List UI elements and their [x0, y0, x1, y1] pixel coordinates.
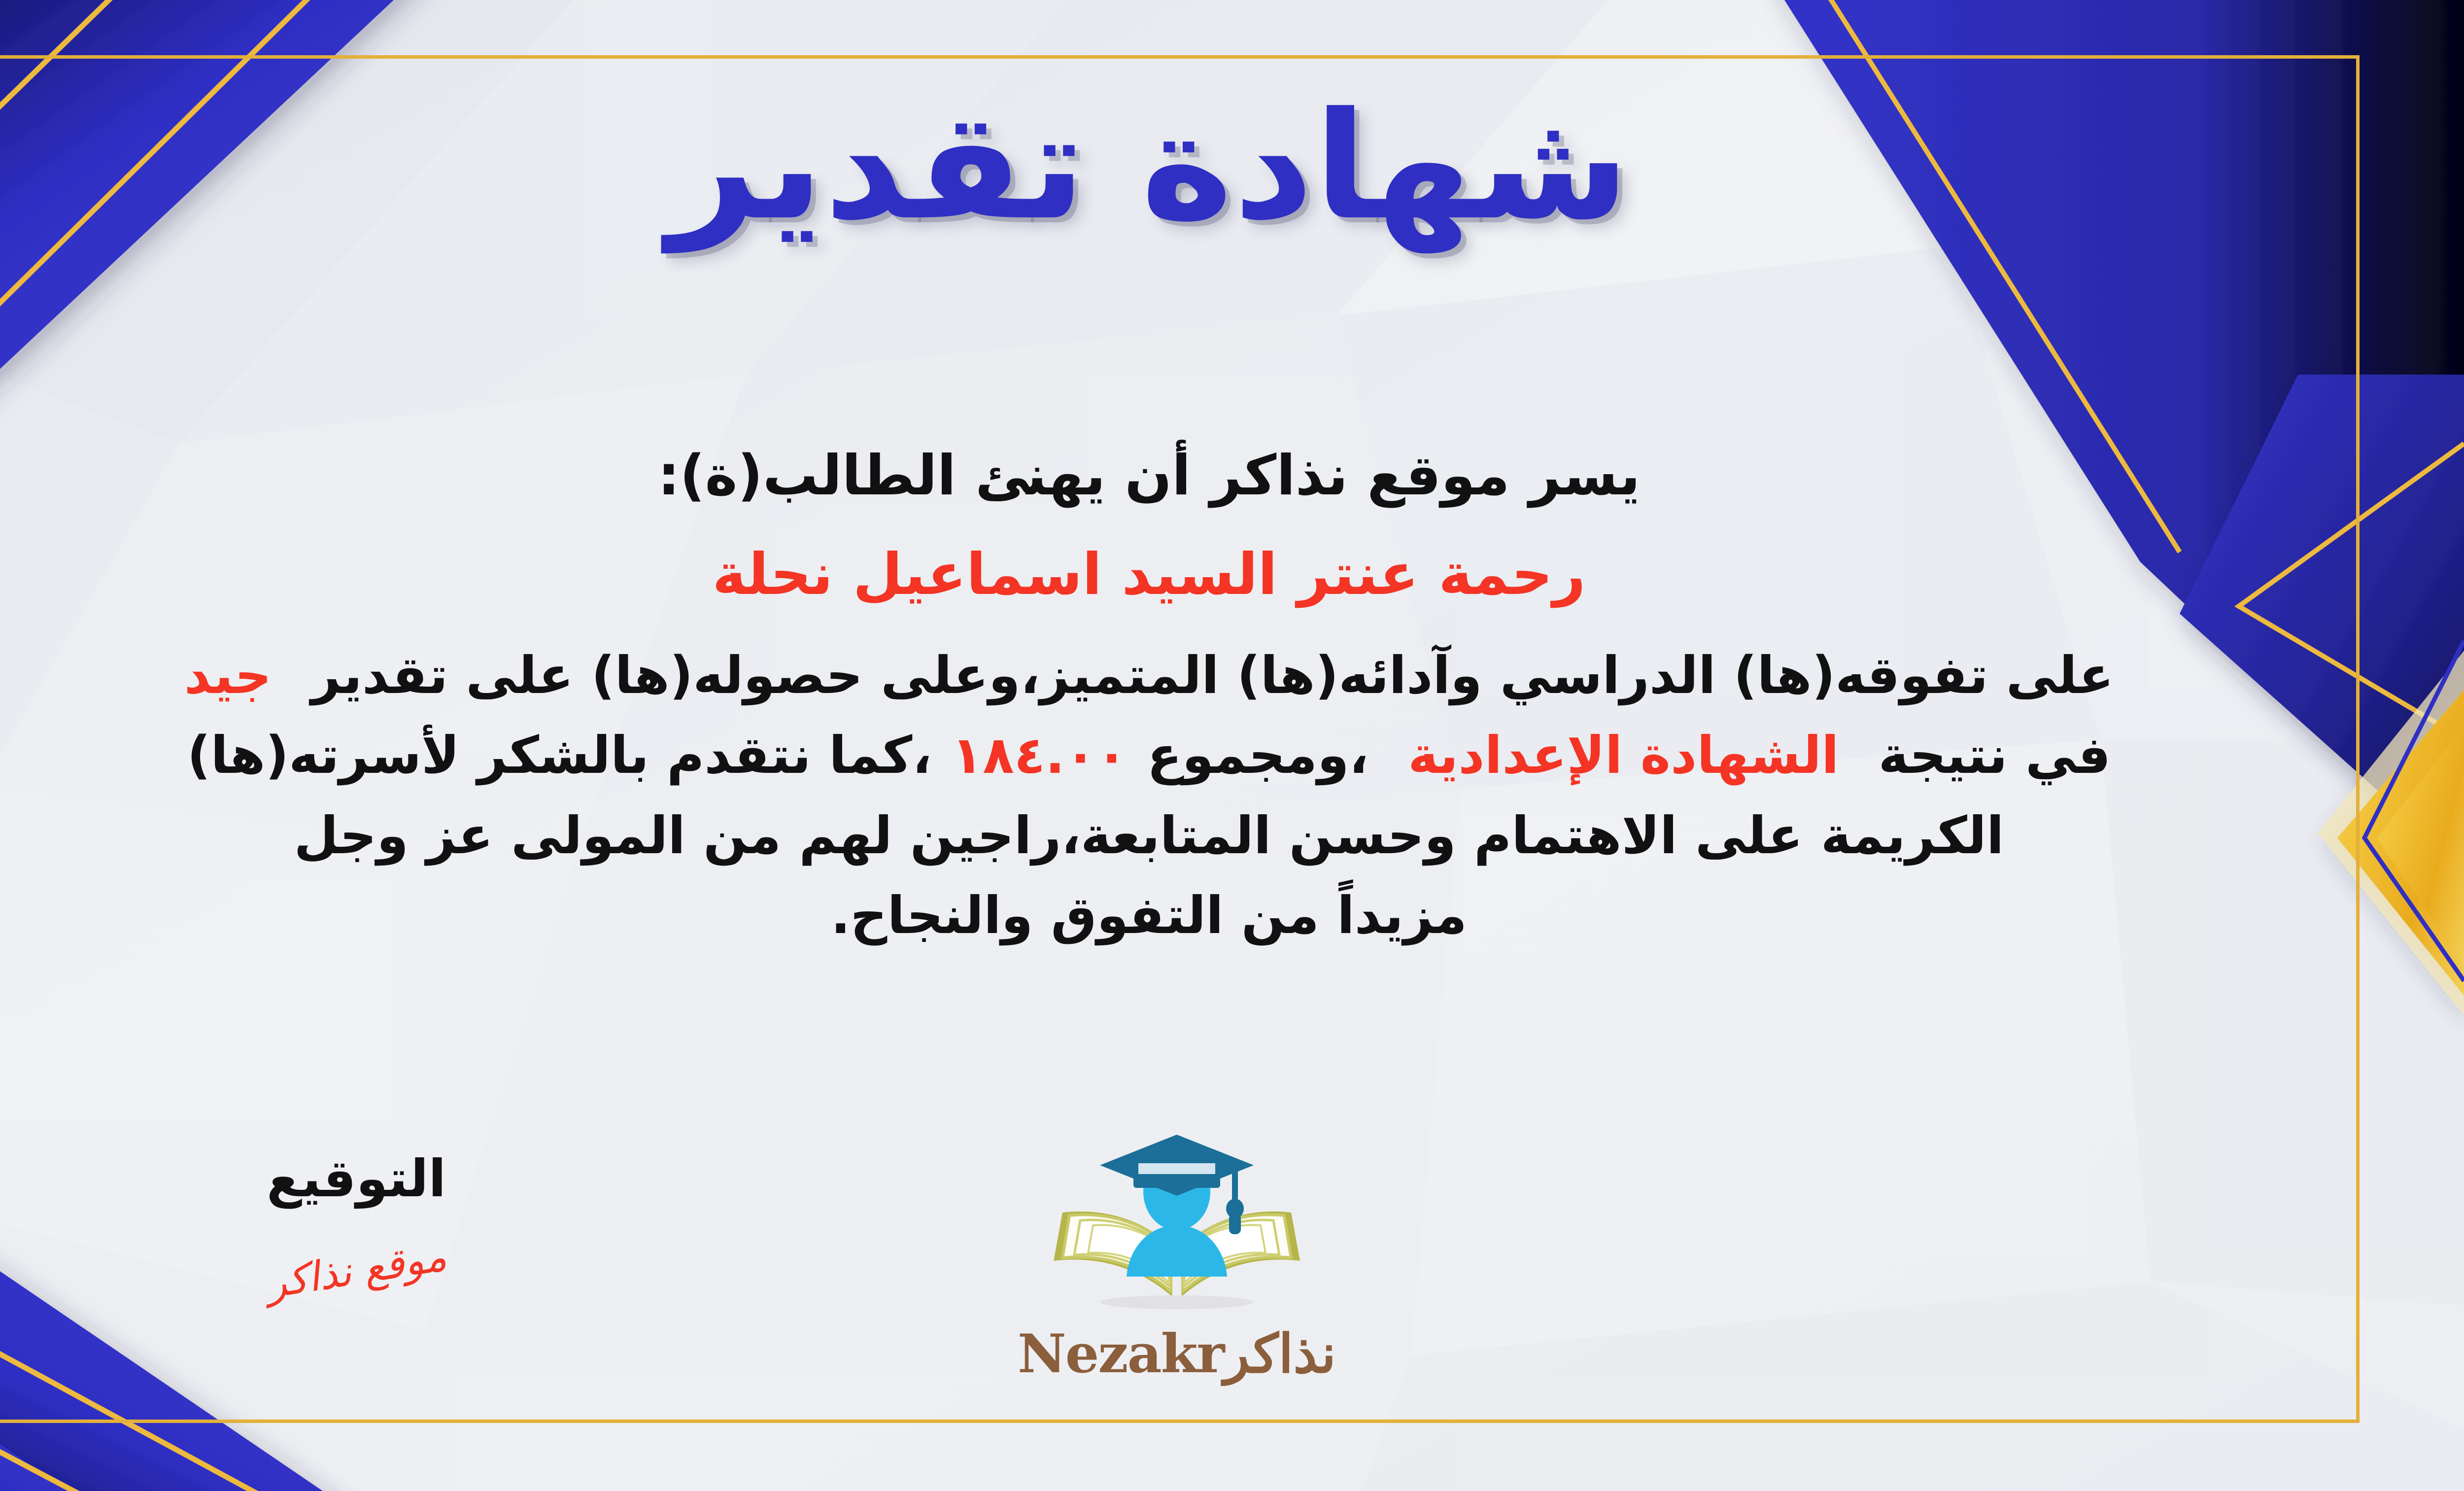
- signature-label: التوقيع: [179, 1148, 534, 1209]
- intro-line: يسر موقع نذاكر أن يهنئ الطالب(ة):: [0, 434, 2316, 518]
- logo-wordmark: نذاكرNezakr: [962, 1323, 1391, 1385]
- achievement-line-4: مزيداً من التفوق والنجاح.: [0, 875, 2316, 955]
- signature-area: التوقيع موقع نذاكر: [179, 1148, 534, 1294]
- student-name: رحمة عنتر السيد اسماعيل نحلة: [0, 541, 2316, 608]
- certificate-body: يسر موقع نذاكر أن يهنئ الطالب(ة): رحمة ع…: [0, 434, 2316, 955]
- grade-value: جيد: [184, 645, 272, 705]
- logo-name-latin: Nezakr: [1018, 1323, 1224, 1385]
- achievement-line-2: في نتيجةالشهادة الإعدادية،ومجموع١٨٤.٠٠،ك…: [0, 715, 2316, 795]
- certificate-stage: الشهادة الإعدادية: [1408, 725, 1839, 785]
- result-prefix: في نتيجة: [1879, 725, 2111, 785]
- achievement-line-1: على تفوقه(ها) الدراسي وآدائه(ها) المتميز…: [0, 635, 2316, 715]
- total-prefix: ،ومجموع: [1147, 725, 1369, 785]
- graduation-book-icon: [1039, 1129, 1315, 1321]
- thanks-text: ،كما نتقدم بالشكر لأسرته(ها): [187, 725, 932, 785]
- achievement-text-a: على تفوقه(ها) الدراسي وآدائه(ها) المتميز…: [311, 645, 2114, 705]
- signature-mark: موقع نذاكر: [263, 1233, 449, 1308]
- certificate-title-wrap: شهادة تقدير: [0, 74, 2464, 259]
- logo-name-arabic: نذاكر: [1224, 1323, 1336, 1385]
- certificate-page: شهادة تقدير يسر موقع نذاكر أن يهنئ الطال…: [0, 0, 2464, 1491]
- total-score: ١٨٤.٠٠: [952, 725, 1128, 785]
- certificate-title: شهادة تقدير: [668, 74, 1630, 259]
- brand-logo: نذاكرNezakr: [962, 1129, 1391, 1385]
- achievement-line-3: الكريمة على الاهتمام وحسن المتابعة،راجين…: [0, 796, 2316, 875]
